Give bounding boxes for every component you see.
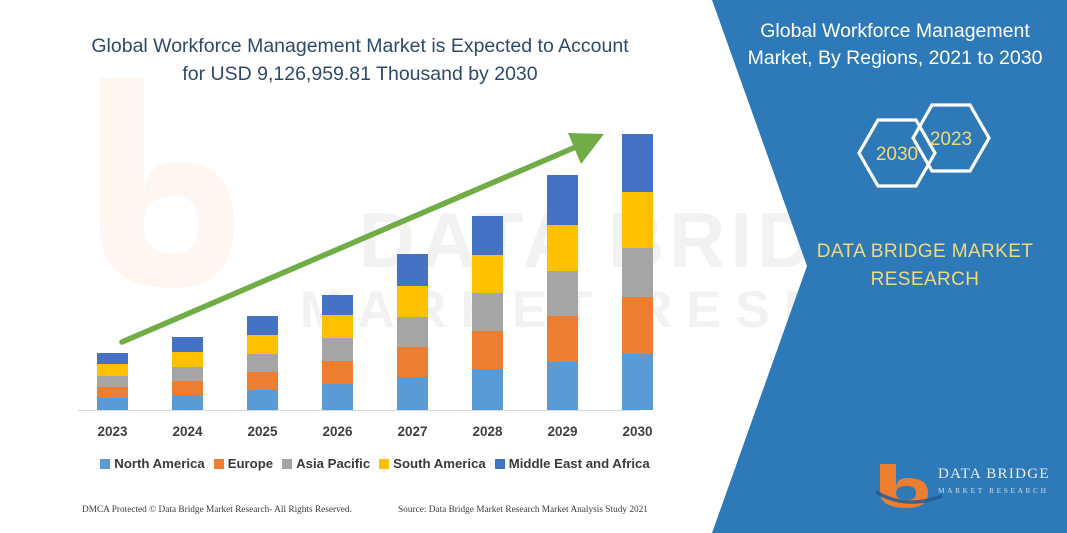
logo-line1: DATA BRIDGE — [938, 466, 1063, 483]
bar-segment — [97, 376, 128, 387]
bar-segment — [247, 390, 278, 410]
bar-segment — [172, 381, 203, 395]
footer-copyright: DMCA Protected © Data Bridge Market Rese… — [82, 505, 352, 515]
bar-segment — [547, 175, 578, 225]
bar-2029 — [547, 175, 578, 410]
legend-swatch-icon — [495, 459, 505, 469]
chart-area: Global Workforce Management Market is Ex… — [0, 0, 715, 533]
bar-segment — [322, 315, 353, 338]
bar-segment — [397, 254, 428, 286]
bar-segment — [622, 248, 653, 297]
bar-segment — [172, 337, 203, 352]
chart-title-line2: for USD 9,126,959.81 Thousand by 2030 — [182, 63, 537, 85]
logo-line2: MARKET RESEARCH — [938, 486, 1063, 495]
bar-segment — [172, 395, 203, 410]
x-axis-label-2029: 2029 — [528, 424, 598, 439]
x-axis-label-2027: 2027 — [378, 424, 448, 439]
svg-text:2023: 2023 — [930, 129, 972, 150]
x-axis-line — [78, 410, 640, 411]
bar-segment — [322, 361, 353, 384]
bar-2025 — [247, 316, 278, 410]
bar-segment — [247, 316, 278, 335]
panel-title: Global Workforce Management Market, By R… — [740, 18, 1050, 72]
bar-segment — [472, 331, 503, 369]
x-axis-labels: 20232024202520262027202820292030 — [75, 424, 675, 444]
stacked-bar-group — [75, 120, 675, 410]
x-axis-label-2026: 2026 — [303, 424, 373, 439]
bar-segment — [472, 216, 503, 255]
x-axis-label-2023: 2023 — [78, 424, 148, 439]
bar-segment — [472, 369, 503, 410]
legend-item[interactable]: Asia Pacific — [282, 456, 370, 471]
bar-segment — [622, 354, 653, 410]
bar-segment — [97, 398, 128, 410]
bar-segment — [547, 225, 578, 271]
svg-text:2030: 2030 — [876, 144, 918, 165]
legend-label: North America — [114, 456, 204, 471]
legend-item[interactable]: South America — [379, 456, 486, 471]
bar-segment — [397, 286, 428, 317]
legend-swatch-icon — [282, 459, 292, 469]
bar-segment — [97, 364, 128, 376]
bar-2026 — [322, 295, 353, 410]
legend-label: Middle East and Africa — [509, 456, 650, 471]
bar-segment — [472, 293, 503, 331]
legend-item[interactable]: North America — [100, 456, 204, 471]
panel-title-line2: Market, By Regions, 2021 to 2030 — [748, 47, 1043, 69]
legend-label: Asia Pacific — [296, 456, 370, 471]
panel-title-line1: Global Workforce Management — [760, 20, 1030, 42]
bar-segment — [622, 192, 653, 248]
legend-swatch-icon — [100, 459, 110, 469]
bar-2028 — [472, 216, 503, 410]
x-axis-label-2028: 2028 — [453, 424, 523, 439]
bar-segment — [547, 362, 578, 410]
bar-segment — [322, 384, 353, 410]
footer: DMCA Protected © Data Bridge Market Rese… — [0, 505, 715, 525]
bar-segment — [547, 316, 578, 362]
bar-segment — [247, 335, 278, 354]
bar-segment — [397, 377, 428, 410]
bar-segment — [247, 354, 278, 372]
legend-swatch-icon — [214, 459, 224, 469]
chart-legend: North AmericaEuropeAsia PacificSouth Ame… — [75, 456, 675, 471]
bar-segment — [547, 271, 578, 316]
bar-2027 — [397, 254, 428, 410]
bar-segment — [622, 134, 653, 192]
brand-line2: RESEARCH — [871, 269, 980, 290]
bar-segment — [97, 387, 128, 398]
infographic-root: DATA BRIDGE MARKET RESEARCH Global Workf… — [0, 0, 1067, 533]
x-axis-label-2025: 2025 — [228, 424, 298, 439]
legend-label: South America — [393, 456, 486, 471]
bar-2024 — [172, 337, 203, 410]
bar-segment — [322, 295, 353, 315]
bar-segment — [472, 255, 503, 293]
x-axis-label-2024: 2024 — [153, 424, 223, 439]
bar-segment — [622, 297, 653, 354]
bar-segment — [172, 367, 203, 381]
footer-source: Source: Data Bridge Market Research Mark… — [398, 505, 648, 515]
hexagon-badges: 2030 2023 — [820, 100, 1020, 220]
bar-segment — [172, 352, 203, 367]
bar-segment — [397, 317, 428, 347]
page-title: Global Workforce Management Market is Ex… — [55, 33, 665, 88]
legend-swatch-icon — [379, 459, 389, 469]
legend-item[interactable]: Europe — [214, 456, 273, 471]
bar-2023 — [97, 353, 128, 410]
bar-segment — [397, 347, 428, 377]
brand-name: DATA BRIDGE MARKET RESEARCH — [790, 238, 1060, 293]
brand-line1: DATA BRIDGE MARKET — [817, 241, 1034, 262]
bar-2030 — [622, 134, 653, 410]
bar-segment — [322, 338, 353, 361]
company-logo-text: DATA BRIDGE MARKET RESEARCH — [938, 466, 1063, 495]
bar-segment — [97, 353, 128, 364]
legend-item[interactable]: Middle East and Africa — [495, 456, 650, 471]
bar-segment — [247, 372, 278, 390]
x-axis-label-2030: 2030 — [603, 424, 673, 439]
chart-title-line1: Global Workforce Management Market is Ex… — [91, 35, 628, 57]
legend-label: Europe — [228, 456, 273, 471]
